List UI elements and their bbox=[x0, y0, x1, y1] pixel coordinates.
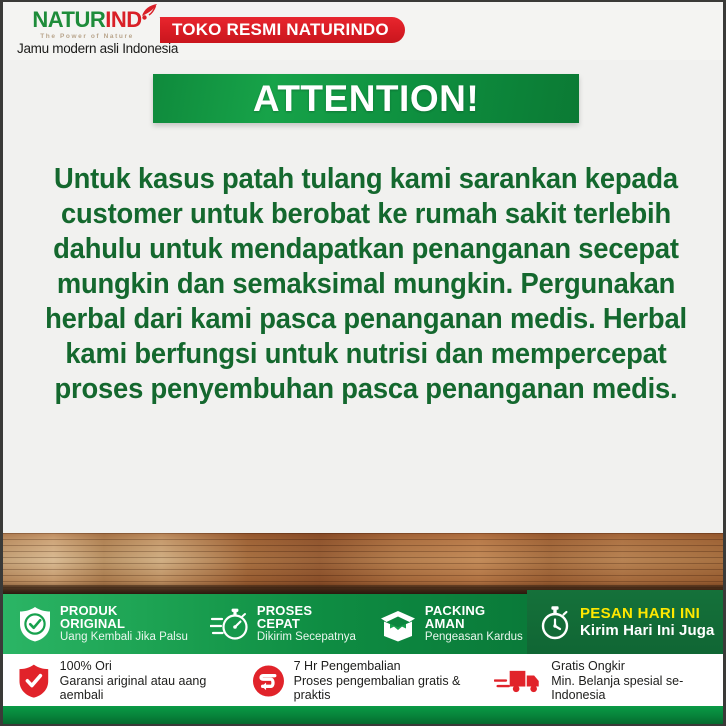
promo-subline: Kirim Hari Ini Juga bbox=[580, 623, 714, 638]
footer-item-title: Gratis Ongkir bbox=[551, 659, 723, 673]
promo-flyer: NATURIND ™ The Power of Nature Jamu mode… bbox=[0, 0, 726, 726]
official-store-badge-label: TOKO RESMI NATURINDO bbox=[172, 20, 389, 40]
guarantee-badge-bar: PRODUK ORIGINAL Uang Kembali Jika Palsu bbox=[3, 590, 723, 654]
open-box-icon bbox=[378, 605, 418, 643]
delivery-truck-icon bbox=[494, 664, 542, 698]
badge-produk-original-text: PRODUK ORIGINAL Uang Kembali Jika Palsu bbox=[60, 604, 188, 644]
footer-item-title: 100% Ori bbox=[60, 659, 252, 673]
return-arrow-icon bbox=[252, 664, 285, 698]
footer-item-gratis-ongkir-text: Gratis Ongkir Min. Belanja spesial se-In… bbox=[551, 659, 723, 702]
promo-pesan-hari-ini: PESAN HARI INI Kirim Hari Ini Juga bbox=[527, 603, 714, 641]
shield-check-icon bbox=[17, 605, 53, 643]
attention-ribbon: ATTENTION! bbox=[153, 74, 579, 123]
guarantee-badge-panel: PRODUK ORIGINAL Uang Kembali Jika Palsu bbox=[3, 594, 527, 654]
badge-title-line1: PROSES bbox=[257, 604, 356, 617]
logo-wordmark: NATURIND ™ bbox=[32, 8, 141, 32]
badge-produk-original: PRODUK ORIGINAL Uang Kembali Jika Palsu bbox=[3, 604, 188, 644]
badge-packing-aman: PACKING AMAN Pengeasan Kardus bbox=[356, 604, 523, 644]
footer-item-title: 7 Hr Pengembalian bbox=[294, 659, 495, 673]
footer-item-100-ori: 100% Ori Garansi ariginal atau aang aemb… bbox=[3, 659, 252, 702]
footer-benefits: 100% Ori Garansi ariginal atau aang aemb… bbox=[3, 654, 723, 708]
footer-item-100-ori-text: 100% Ori Garansi ariginal atau aang aemb… bbox=[60, 659, 252, 702]
brand-logo: NATURIND ™ The Power of Nature Jamu mode… bbox=[17, 8, 157, 54]
bottom-accent-bar bbox=[3, 706, 723, 724]
footer-item-subtitle: Min. Belanja spesial se-Indonesia bbox=[551, 674, 723, 703]
leaf-swoosh-icon bbox=[139, 3, 159, 21]
badge-title-line2: CEPAT bbox=[257, 617, 356, 630]
badge-title-line2: AMAN bbox=[425, 617, 523, 630]
stopwatch-icon bbox=[537, 603, 573, 641]
footer-item-pengembalian-text: 7 Hr Pengembalian Proses pengembalian gr… bbox=[294, 659, 495, 702]
footer-item-gratis-ongkir: Gratis Ongkir Min. Belanja spesial se-In… bbox=[494, 659, 723, 702]
badge-proses-cepat-text: PROSES CEPAT Dikirim Secepatnya bbox=[257, 604, 356, 644]
promo-headline: PESAN HARI INI bbox=[580, 606, 714, 621]
badge-subtitle: Pengeasan Kardus bbox=[425, 632, 523, 644]
body-paragraph: Untuk kasus patah tulang kami sarankan k… bbox=[29, 162, 703, 407]
promo-text: PESAN HARI INI Kirim Hari Ini Juga bbox=[580, 606, 714, 639]
shield-check-icon bbox=[17, 663, 51, 699]
footer-item-subtitle: Garansi ariginal atau aang aembali bbox=[60, 674, 252, 703]
promo-panel: PESAN HARI INI Kirim Hari Ini Juga bbox=[527, 590, 726, 654]
badge-subtitle: Uang Kembali Jika Palsu bbox=[60, 632, 188, 644]
attention-label: ATTENTION! bbox=[253, 78, 479, 120]
official-store-badge: TOKO RESMI NATURINDO bbox=[160, 17, 405, 43]
badge-subtitle: Dikirim Secepatnya bbox=[257, 632, 356, 644]
badge-packing-aman-text: PACKING AMAN Pengeasan Kardus bbox=[425, 604, 523, 644]
badge-title-line1: PACKING bbox=[425, 604, 523, 617]
logo-word-ind: IND bbox=[105, 7, 141, 32]
badge-title-line2: ORIGINAL bbox=[60, 617, 188, 630]
footer-item-pengembalian: 7 Hr Pengembalian Proses pengembalian gr… bbox=[252, 659, 495, 702]
logo-tagline-main: Jamu modern asli Indonesia bbox=[17, 41, 157, 56]
logo-tagline-small: The Power of Nature bbox=[17, 32, 157, 41]
wood-texture-band bbox=[3, 533, 723, 594]
logo-word-natur: NATUR bbox=[32, 7, 105, 32]
stopwatch-speed-icon bbox=[210, 605, 250, 643]
badge-proses-cepat: PROSES CEPAT Dikirim Secepatnya bbox=[188, 604, 356, 644]
badge-title-line1: PRODUK bbox=[60, 604, 188, 617]
header: NATURIND ™ The Power of Nature Jamu mode… bbox=[3, 2, 723, 60]
footer-item-subtitle: Proses pengembalian gratis & praktis bbox=[294, 674, 495, 703]
